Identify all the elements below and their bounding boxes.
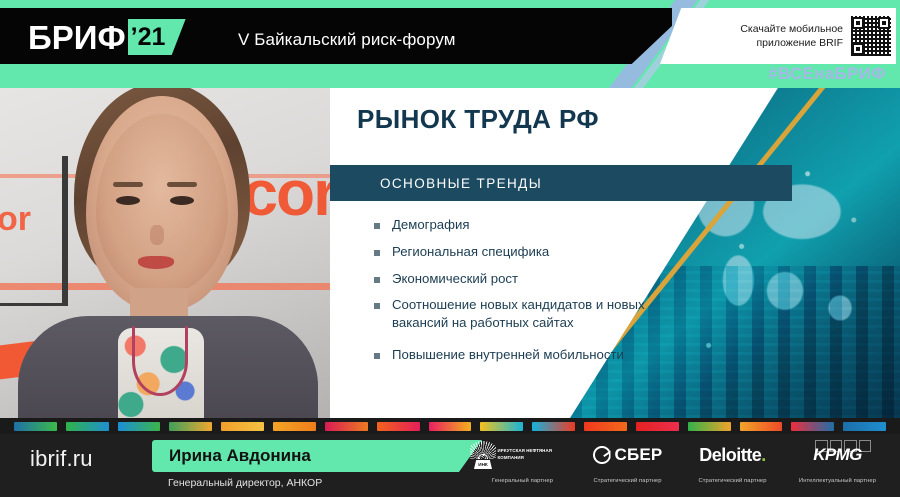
color-stripe-segment — [429, 422, 472, 431]
color-stripe-segment — [325, 422, 368, 431]
color-stripe-segment — [532, 422, 575, 431]
sponsor-deloitte[interactable]: Deloitte. Стратегический партнер — [680, 438, 785, 496]
bullet-square-icon — [374, 250, 380, 256]
ink-fan-icon — [470, 441, 495, 469]
bullet-square-icon — [374, 303, 380, 309]
promo-line-2: приложение BRIF — [684, 36, 843, 50]
color-stripe-segment — [273, 422, 316, 431]
speaker-mouth — [138, 256, 174, 269]
color-stripe-segment — [118, 422, 161, 431]
speaker-video-feed[interactable]: or ancor — [0, 88, 330, 418]
color-stripe-segment — [377, 422, 420, 431]
color-stripe-segment — [169, 422, 212, 431]
main-content-area: or ancor РЫНОК ТРУДА РФ — [0, 88, 900, 418]
sponsor-sber[interactable]: СБЕР Стратегический партнер — [575, 438, 680, 496]
sponsor-label: Генеральный партнер — [492, 478, 553, 484]
color-stripe-segment — [221, 422, 264, 431]
qr-code-icon[interactable] — [850, 15, 892, 57]
color-stripe-bar — [0, 418, 900, 434]
deloitte-dot: . — [761, 445, 766, 465]
bullet-square-icon — [374, 223, 380, 229]
sber-logo-text: СБЕР — [615, 445, 663, 465]
color-stripe-segment — [843, 422, 886, 431]
color-stripe-segment — [791, 422, 834, 431]
list-item: Демография — [374, 216, 704, 234]
ink-logo-icon: ИРКУТСКАЯ НЕФТЯНАЯ КОМПАНИЯ — [470, 438, 575, 472]
color-stripe-segment — [480, 422, 523, 431]
color-stripe-segment — [740, 422, 783, 431]
website-url[interactable]: ibrif.ru — [30, 446, 93, 472]
list-item: Экономический рост — [374, 270, 704, 288]
speaker-brow-left — [113, 182, 143, 187]
forum-title: V Байкальский риск-форум — [238, 30, 456, 50]
presentation-slide[interactable]: РЫНОК ТРУДА РФ ОСНОВНЫЕ ТРЕНДЫ Демографи… — [330, 88, 900, 418]
color-stripe-segment — [636, 422, 679, 431]
brif-logo-year-text: ’21 — [128, 25, 166, 50]
list-item: Повышение внутренней мобильности — [374, 346, 704, 364]
hashtag-label: #ВСЕнаБРИФ — [768, 64, 886, 84]
sber-ring-icon — [593, 446, 611, 464]
deloitte-logo-text: Deloitte — [699, 445, 761, 465]
list-item: Соотношение новых кандидатов и новых вак… — [374, 296, 704, 332]
brif-logo-text: БРИФ — [28, 21, 126, 54]
sponsor-label: Стратегический партнер — [593, 478, 661, 484]
speaker-name-badge: Ирина Авдонина — [152, 440, 482, 472]
promo-line-1: Скачайте мобильное — [684, 22, 843, 36]
bullet-text: Соотношение новых кандидатов и новых вак… — [392, 296, 704, 332]
ink-logo-text: ИРКУТСКАЯ НЕФТЯНАЯ КОМПАНИЯ — [498, 448, 575, 461]
promo-text: Скачайте мобильное приложение BRIF — [684, 22, 850, 50]
deloitte-logo-icon: Deloitte. — [699, 438, 766, 472]
brif-logo-year-badge: ’21 — [128, 19, 186, 55]
kpmg-logo-text: KPMG — [813, 445, 862, 465]
bullet-text: Региональная специфика — [392, 243, 549, 261]
backdrop-logo-partial-left: or — [0, 200, 31, 239]
bullet-square-icon — [374, 353, 380, 359]
color-stripe-segment — [66, 422, 109, 431]
sponsor-label: Интеллектуальный партнер — [799, 478, 876, 484]
color-stripe-segment — [14, 422, 57, 431]
speaker-brow-right — [167, 182, 197, 187]
brif-logo: БРИФ ’21 — [28, 18, 186, 56]
color-stripe-segment — [584, 422, 627, 431]
bullet-text: Экономический рост — [392, 270, 518, 288]
kpmg-logo-icon: KPMG — [813, 438, 862, 472]
bullet-text: Демография — [392, 216, 470, 234]
slide-bullet-list: Демография Региональная специфика Эконом… — [374, 216, 704, 373]
footer-bar: ibrif.ru Ирина Авдонина Генеральный дире… — [0, 434, 900, 497]
mobile-app-promo-card[interactable]: Скачайте мобильное приложение BRIF — [660, 8, 896, 64]
slide-section-band: ОСНОВНЫЕ ТРЕНДЫ — [330, 165, 792, 201]
color-stripe-segment — [688, 422, 731, 431]
slide-title: РЫНОК ТРУДА РФ — [357, 104, 599, 135]
top-banner: БРИФ ’21 V Байкальский риск-форум Скачай… — [0, 0, 900, 88]
bullet-square-icon — [374, 277, 380, 283]
sponsor-kpmg[interactable]: KPMG Интеллектуальный партнер — [785, 438, 890, 496]
speaker-name: Ирина Авдонина — [152, 446, 311, 466]
sponsor-logos: ИРКУТСКАЯ НЕФТЯНАЯ КОМПАНИЯ Генеральный … — [470, 438, 890, 496]
slide-section-label: ОСНОВНЫЕ ТРЕНДЫ — [330, 176, 542, 191]
bullet-text: Повышение внутренней мобильности — [392, 346, 624, 364]
speaker-role: Генеральный директор, АНКОР — [168, 477, 322, 489]
speaker-eye-left — [116, 196, 140, 205]
speaker-necklace — [132, 326, 188, 396]
speaker-eye-right — [170, 196, 194, 205]
speaker-nose — [150, 225, 164, 245]
wall-frame-decor-2 — [62, 156, 65, 306]
sponsor-ink[interactable]: ИРКУТСКАЯ НЕФТЯНАЯ КОМПАНИЯ Генеральный … — [470, 438, 575, 496]
sber-logo-icon: СБЕР — [593, 438, 663, 472]
list-item: Региональная специфика — [374, 243, 704, 261]
broadcast-stage: БРИФ ’21 V Байкальский риск-форум Скачай… — [0, 0, 900, 497]
sponsor-label: Стратегический партнер — [698, 478, 766, 484]
